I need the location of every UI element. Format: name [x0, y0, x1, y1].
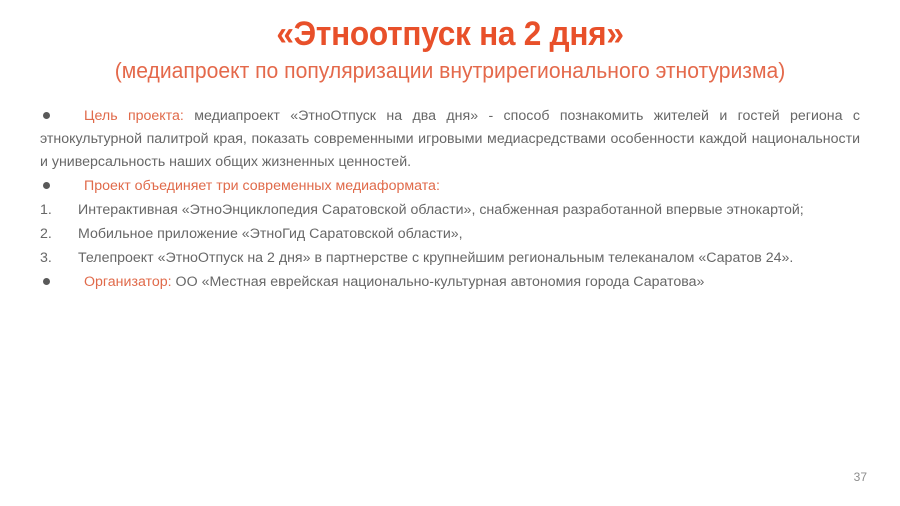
list-item-format-3: 3.Телепроект «ЭтноОтпуск на 2 дня» в пар…	[40, 247, 860, 270]
bullet-icon	[43, 278, 50, 285]
formats-heading: Проект объединяет три современных медиаф…	[84, 178, 440, 194]
slide: «Этноотпуск на 2 дня» (медиапроект по по…	[0, 0, 900, 506]
page-title: «Этноотпуск на 2 дня»	[32, 16, 869, 53]
format-1-number: 1.	[40, 199, 78, 222]
bullet-item-formats: Проект объединяет три современных медиаф…	[40, 175, 860, 198]
goal-label: Цель проекта	[84, 108, 180, 124]
format-1-text: Интерактивная «ЭтноЭнциклопедия Саратовс…	[78, 202, 804, 218]
format-2-number: 2.	[40, 223, 78, 246]
bullet-item-organizer: Организатор: ОО «Местная еврейская нацио…	[40, 271, 860, 294]
list-item-format-1: 1.Интерактивная «ЭтноЭнциклопедия Сарато…	[40, 199, 860, 222]
list-item-format-2: 2.Мобильное приложение «ЭтноГид Саратовс…	[40, 223, 860, 246]
format-2-text: Мобильное приложение «ЭтноГид Саратовско…	[78, 226, 463, 242]
organizer-text: ОО «Местная еврейская национально-культу…	[172, 274, 705, 290]
page-subtitle: (медиапроект по популяризации внутриреги…	[18, 59, 882, 84]
bullet-icon	[43, 182, 50, 189]
bullet-item-goal: Цель проекта: медиапроект «ЭтноОтпуск на…	[40, 105, 860, 174]
organizer-label: Организатор	[84, 274, 168, 290]
format-3-number: 3.	[40, 247, 78, 270]
title-block: «Этноотпуск на 2 дня» (медиапроект по по…	[0, 0, 900, 83]
format-3-text: Телепроект «ЭтноОтпуск на 2 дня» в партн…	[78, 250, 793, 266]
slide-body: Цель проекта: медиапроект «ЭтноОтпуск на…	[40, 105, 860, 294]
bullet-icon	[43, 112, 50, 119]
page-number: 37	[854, 470, 867, 484]
